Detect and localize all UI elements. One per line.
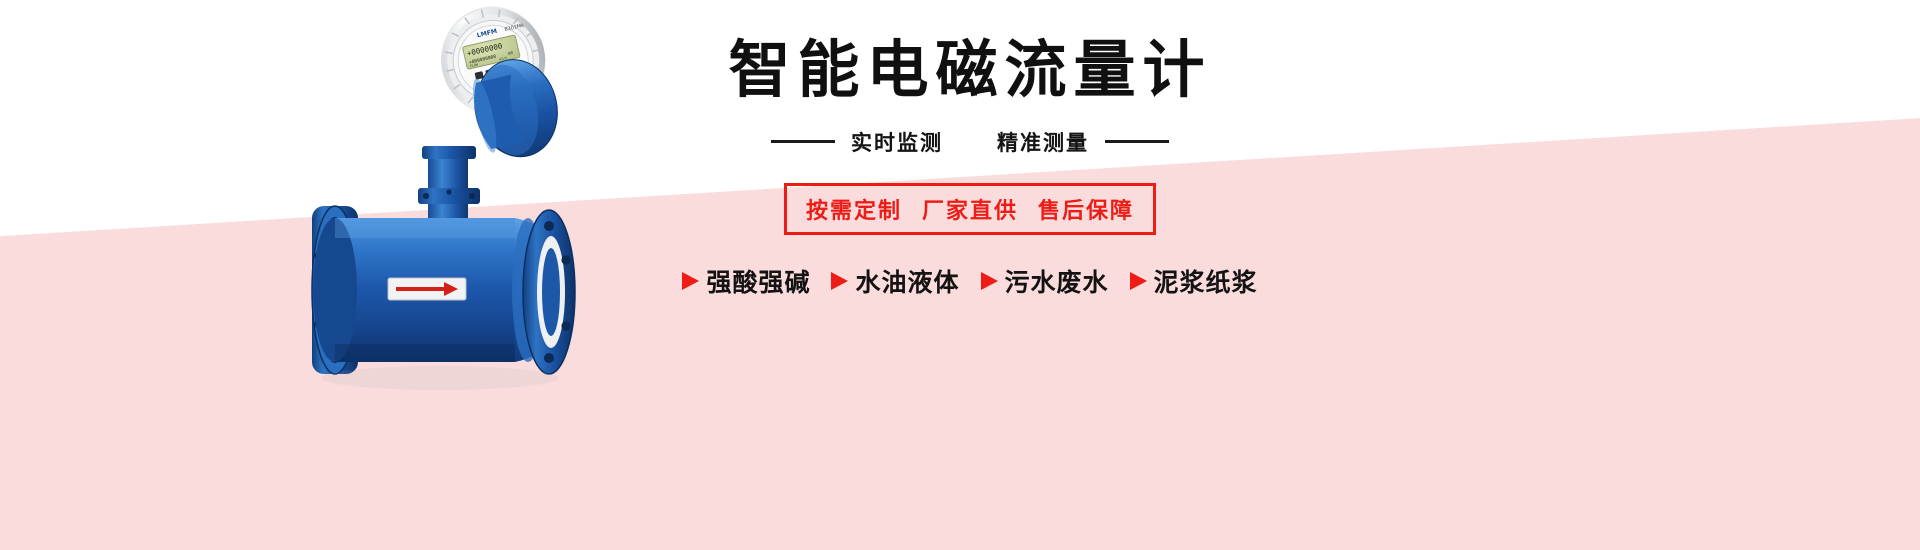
product-image-flowmeter: LMFM 8301Mk +0000000 +000000000 m3 FLOW …	[300, 6, 660, 416]
feature-label-1: 强酸强碱	[706, 263, 810, 299]
feature-item-2: 水油液体	[831, 263, 959, 299]
subtitle-right: 精准测量	[997, 127, 1089, 157]
feature-item-3: 污水废水	[981, 263, 1109, 299]
feature-item-1: 强酸强碱	[682, 263, 810, 299]
rule-right-icon	[1105, 140, 1169, 143]
feature-label-4: 泥浆纸浆	[1154, 263, 1258, 299]
rule-left-icon	[771, 140, 835, 143]
banner-text-column: 智能电磁流量计 实时监测 精准测量 按需定制 厂家直供 售后保障 强酸强碱 水油…	[660, 38, 1280, 398]
promo-banner: LMFM 8301Mk +0000000 +000000000 m3 FLOW …	[0, 0, 1920, 550]
right-flange	[523, 210, 575, 374]
subtitle-row: 实时监测 精准测量	[660, 127, 1280, 157]
subtitle-left: 实时监测	[851, 127, 943, 157]
feature-list: 强酸强碱 水油液体 污水废水 泥浆纸浆	[660, 263, 1280, 299]
page-title: 智能电磁流量计	[660, 38, 1280, 105]
feature-item-4: 泥浆纸浆	[1130, 263, 1258, 299]
feature-label-2: 水油液体	[855, 263, 959, 299]
promo-item-1: 按需定制	[806, 193, 902, 225]
promo-item-2: 厂家直供	[922, 193, 1018, 225]
triangle-right-icon	[682, 272, 699, 290]
feature-label-3: 污水废水	[1005, 263, 1109, 299]
flowmeter-barrel	[313, 218, 515, 362]
promo-box: 按需定制 厂家直供 售后保障	[784, 183, 1156, 235]
triangle-right-icon	[1130, 272, 1147, 290]
triangle-right-icon	[831, 272, 848, 290]
triangle-right-icon	[981, 272, 998, 290]
promo-item-3: 售后保障	[1038, 193, 1134, 225]
